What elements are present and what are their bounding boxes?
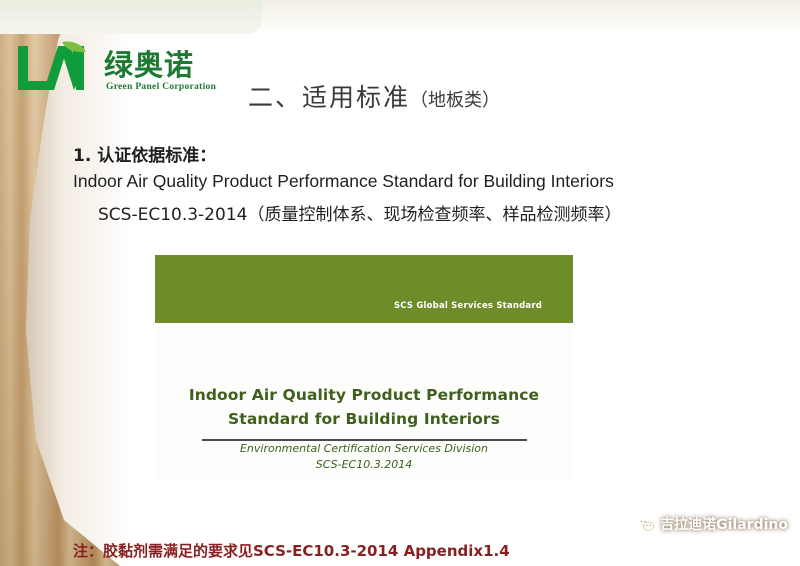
slide-canvas: 绿奥诺 Green Panel Corporation 二、适用标准（地板类） … [0, 0, 800, 566]
document-subtitle-line-1: Environmental Certification Services Div… [155, 442, 573, 455]
document-title-line-1: Indoor Air Quality Product Performance [155, 386, 573, 404]
document-banner-label: SCS Global Services Standard [394, 301, 542, 311]
page-title-sub: （地板类） [410, 90, 500, 111]
page-title: 二、适用标准（地板类） [248, 78, 500, 114]
brand-logo: 绿奥诺 Green Panel Corporation [14, 40, 224, 102]
body-line-2: Indoor Air Quality Product Performance S… [73, 171, 614, 192]
logo-name-en: Green Panel Corporation [106, 82, 216, 92]
document-divider [202, 439, 527, 441]
document-green-banner: SCS Global Services Standard [155, 255, 573, 323]
document-title-line-2: Standard for Building Interiors [155, 410, 573, 428]
document-subtitle-line-2: SCS-EC10.3.2014 [155, 458, 573, 471]
lav-leaf-logo-icon [14, 40, 92, 96]
logo-name-cn: 绿奥诺 [104, 42, 194, 84]
watermark-text: 吉拉迪诺Gilardino [660, 514, 788, 534]
page-title-main: 二、适用标准 [248, 83, 410, 112]
body-line-3: SCS-EC10.3-2014（质量控制体系、现场检查频率、样品检测频率） [98, 200, 621, 225]
logo-tab-background [0, 0, 262, 34]
body-line-1: 1. 认证依据标准： [73, 141, 216, 166]
watermark: 吉拉迪诺Gilardino [637, 514, 788, 534]
wechat-icon [637, 517, 654, 532]
footnote-text: 注：胶黏剂需满足的要求见SCS-EC10.3-2014 Appendix1.4 [73, 540, 510, 561]
header-band-right [230, 0, 800, 34]
standard-document-image: SCS Global Services Standard Indoor Air … [155, 255, 573, 480]
